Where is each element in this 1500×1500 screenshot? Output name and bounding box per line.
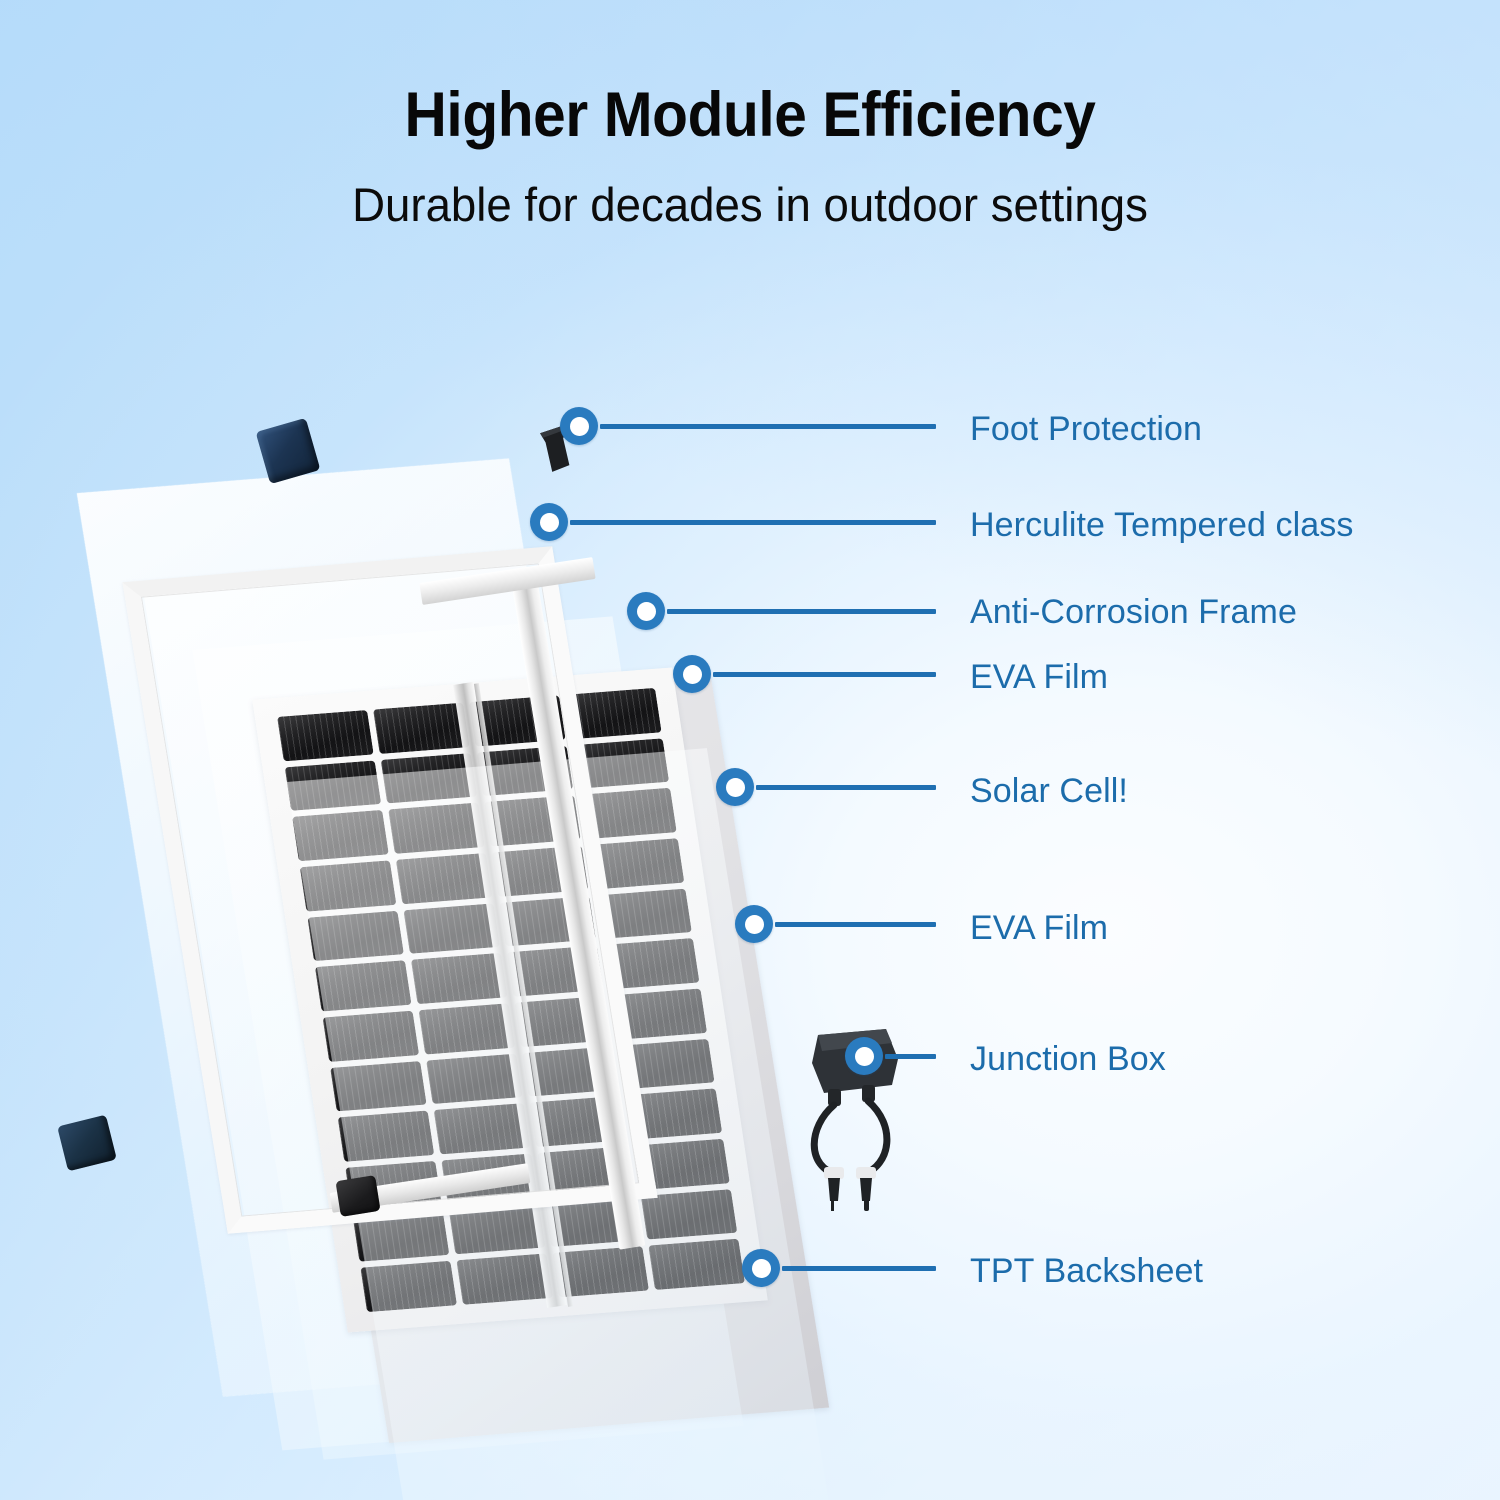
- callout-marker-icon[interactable]: [673, 655, 711, 693]
- callout-marker-icon[interactable]: [845, 1037, 883, 1075]
- callout-label[interactable]: Herculite Tempered class: [970, 508, 1354, 542]
- callout-marker-icon[interactable]: [742, 1249, 780, 1287]
- callout-marker-icon[interactable]: [735, 905, 773, 943]
- callout-leader-line: [775, 922, 936, 927]
- callout-leader-line: [600, 424, 936, 429]
- callout-label[interactable]: EVA Film: [970, 911, 1108, 945]
- callout-marker-icon[interactable]: [627, 592, 665, 630]
- callout-group: Foot Protection Herculite Tempered class…: [0, 0, 1500, 1500]
- callout-marker-icon[interactable]: [716, 768, 754, 806]
- callout-label[interactable]: Foot Protection: [970, 412, 1202, 446]
- callout-leader-line: [756, 785, 936, 790]
- callout-label[interactable]: EVA Film: [970, 660, 1108, 694]
- callout-leader-line: [570, 520, 936, 525]
- callout-leader-line: [713, 672, 936, 677]
- callout-label[interactable]: Junction Box: [970, 1042, 1166, 1076]
- callout-marker-icon[interactable]: [530, 503, 568, 541]
- callout-label[interactable]: TPT Backsheet: [970, 1254, 1203, 1288]
- callout-label[interactable]: Solar Cell!: [970, 774, 1128, 808]
- callout-leader-line: [782, 1266, 936, 1271]
- callout-marker-icon[interactable]: [560, 407, 598, 445]
- callout-leader-line: [885, 1054, 936, 1059]
- callout-label[interactable]: Anti-Corrosion Frame: [970, 595, 1297, 629]
- callout-leader-line: [667, 609, 936, 614]
